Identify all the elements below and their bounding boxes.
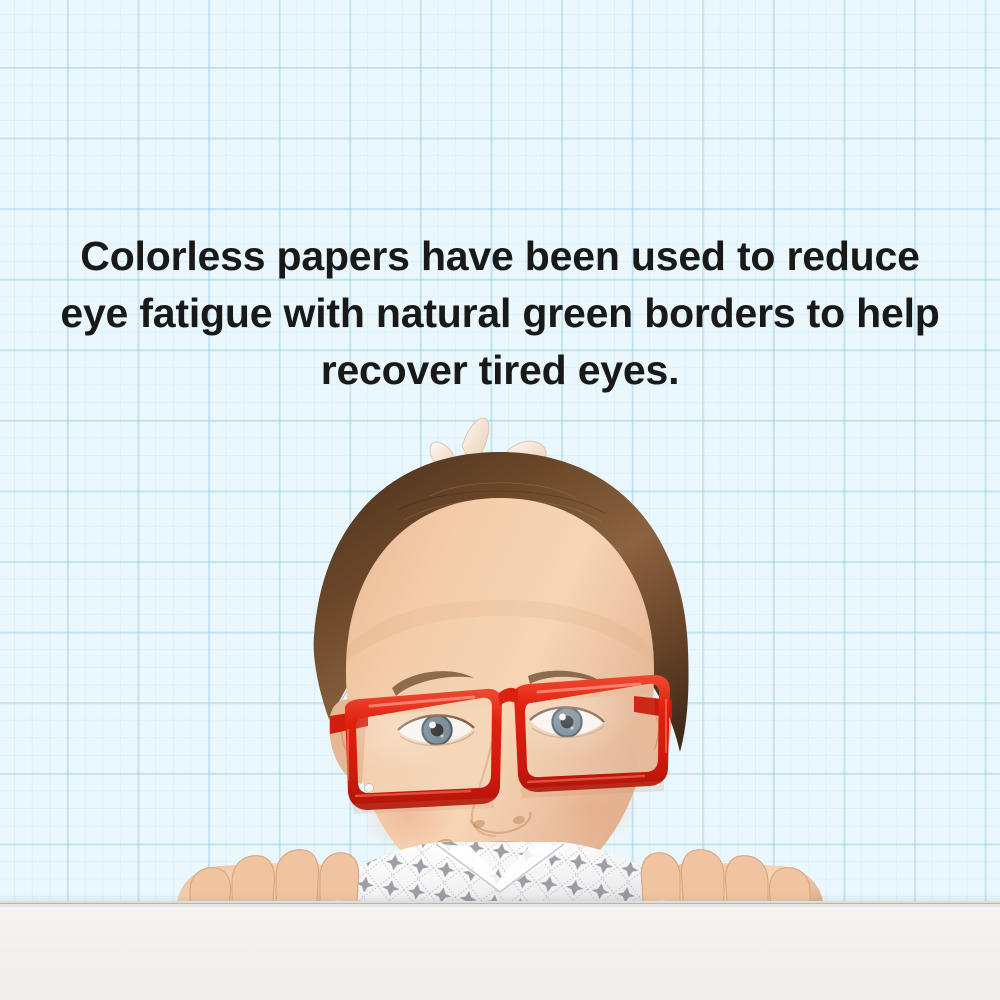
poster-canvas: Colorless papers have been used to reduc… <box>0 0 1000 1000</box>
headline-line-1: Colorless papers have been used to reduc… <box>0 228 1000 285</box>
white-board-foreground <box>0 901 1000 1000</box>
girl-illustration <box>0 400 1000 920</box>
headline-line-3: recover tired eyes. <box>0 342 1000 399</box>
headline-text: Colorless papers have been used to reduc… <box>0 228 1000 399</box>
board-texture <box>0 901 1000 1000</box>
headline-line-2: eye fatigue with natural green borders t… <box>0 285 1000 342</box>
girl-photo <box>0 400 1000 920</box>
